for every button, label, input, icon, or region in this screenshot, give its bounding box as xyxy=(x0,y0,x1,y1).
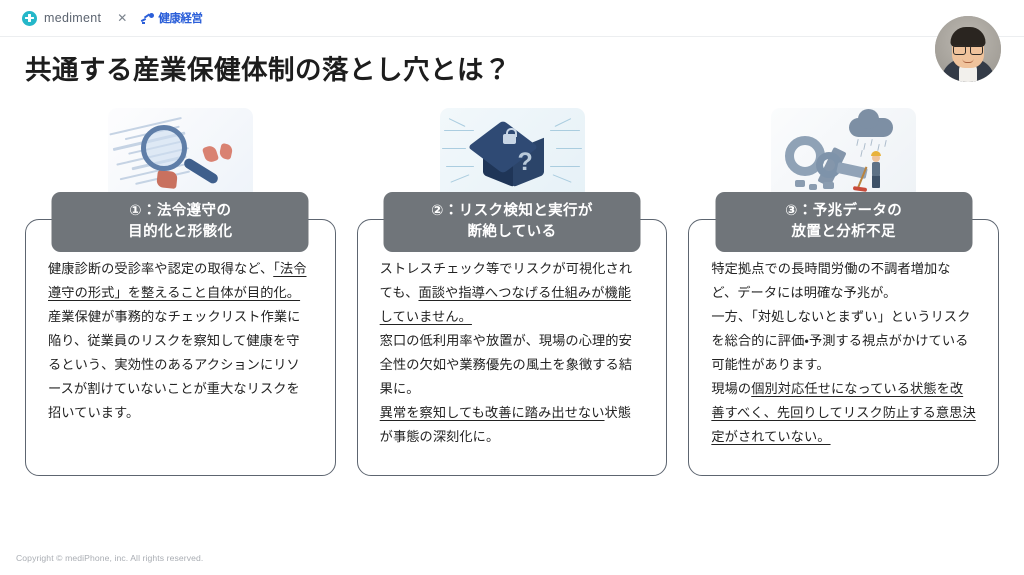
card-2-badge-line2: 断絶している xyxy=(388,222,637,243)
card-3-box: ③：予兆データの 放置と分析不足 特定拠点での長時間労働の不調者増加など、データ… xyxy=(688,219,999,476)
card-1: ①：法令遵守の 目的化と形骸化 健康診断の受診率や認定の取得など、「法令遵守の形… xyxy=(25,108,336,476)
health-management-icon xyxy=(141,12,155,25)
cobrand-logo: 健康経営 xyxy=(141,10,202,26)
top-bar: mediment ✕ 健康経営 xyxy=(0,0,1024,37)
card-2-badge: ②：リスク検知と実行が 断絶している xyxy=(384,192,641,252)
close-icon: ✕ xyxy=(117,12,127,24)
card-1-text-2: 産業保健が事務的なチェックリスト作業に陥り、従業員のリスクを察知して健康を守ると… xyxy=(48,310,300,421)
avatar xyxy=(935,16,1001,82)
card-3-text-2: 現場の xyxy=(711,382,751,397)
card-1-badge-line1: ①：法令遵守の xyxy=(56,201,305,222)
card-3-text-0: 特定拠点での長時間労働の不調者増加など、データには明確な予兆が。 xyxy=(711,262,950,301)
magnifier-document-icon xyxy=(108,108,253,200)
broken-gears-rain-worker-icon xyxy=(771,108,916,200)
card-2-text-1: 面談や指導へつなげる仕組みが機能していません。 xyxy=(380,286,631,325)
card-3-badge: ③：予兆データの 放置と分析不足 xyxy=(715,192,972,252)
card-2-box: ②：リスク検知と実行が 断絶している ストレスチェック等でリスクが可視化されても… xyxy=(357,219,668,476)
card-2-text-3: 異常を察知しても改善に踏み出せない xyxy=(380,406,605,421)
brand-logo: mediment xyxy=(22,11,101,26)
card-2-text-2: 窓口の低利用率や放置が、現場の心理的安全性の欠如や業務優先の風土を象徴する結果に… xyxy=(380,334,632,397)
card-2-body: ストレスチェック等でリスクが可視化されても、面談や指導へつなげる仕組みが機能して… xyxy=(380,258,645,450)
card-3-body: 特定拠点での長時間労働の不調者増加など、データには明確な予兆が。 一方、「対処し… xyxy=(711,258,976,450)
card-3-text-3: 個別対応任せになっている状態を改善すべく、先回りしてリスク防止する意思決定がされ… xyxy=(711,382,975,445)
card-1-badge-line2: 目的化と形骸化 xyxy=(56,222,305,243)
question-mark-icon: ? xyxy=(518,148,533,177)
card-2-badge-line1: ②：リスク検知と実行が xyxy=(388,201,637,222)
rain-cloud-icon xyxy=(849,118,893,137)
card-1-text-0: 健康診断の受診率や認定の取得など、 xyxy=(48,262,273,277)
card-1-body: 健康診断の受診率や認定の取得など、「法令遵守の形式」を整えること自体が目的化。 … xyxy=(48,258,313,426)
card-list: ①：法令遵守の 目的化と形骸化 健康診断の受診率や認定の取得など、「法令遵守の形… xyxy=(25,108,999,476)
card-1-badge: ①：法令遵守の 目的化と形骸化 xyxy=(52,192,309,252)
card-1-box: ①：法令遵守の 目的化と形骸化 健康診断の受診率や認定の取得など、「法令遵守の形… xyxy=(25,219,336,476)
locked-cube-circuit-icon: ? xyxy=(440,108,585,200)
lock-icon xyxy=(503,134,516,144)
plus-circle-icon xyxy=(22,11,37,26)
brand-name: mediment xyxy=(44,11,101,25)
card-3-text-1: 一方、「対処しないとまずい」というリスクを総合的に評価・予測する視点がかけている… xyxy=(711,310,970,373)
card-3: ③：予兆データの 放置と分析不足 特定拠点での長時間労働の不調者増加など、データ… xyxy=(688,108,999,476)
cobrand-label: 健康経営 xyxy=(158,10,202,26)
card-2: ? ②：リスク検知と実行が 断絶している ストレスチェック等でリスクが可視化され… xyxy=(357,108,668,476)
card-3-badge-line1: ③：予兆データの xyxy=(719,201,968,222)
copyright-footer: Copyright © mediPhone, inc. All rights r… xyxy=(16,553,203,563)
slide: mediment ✕ 健康経営 共通する産業保健体制の落とし穴とは？ xyxy=(0,0,1024,575)
card-3-badge-line2: 放置と分析不足 xyxy=(719,222,968,243)
page-title: 共通する産業保健体制の落とし穴とは？ xyxy=(25,48,511,87)
